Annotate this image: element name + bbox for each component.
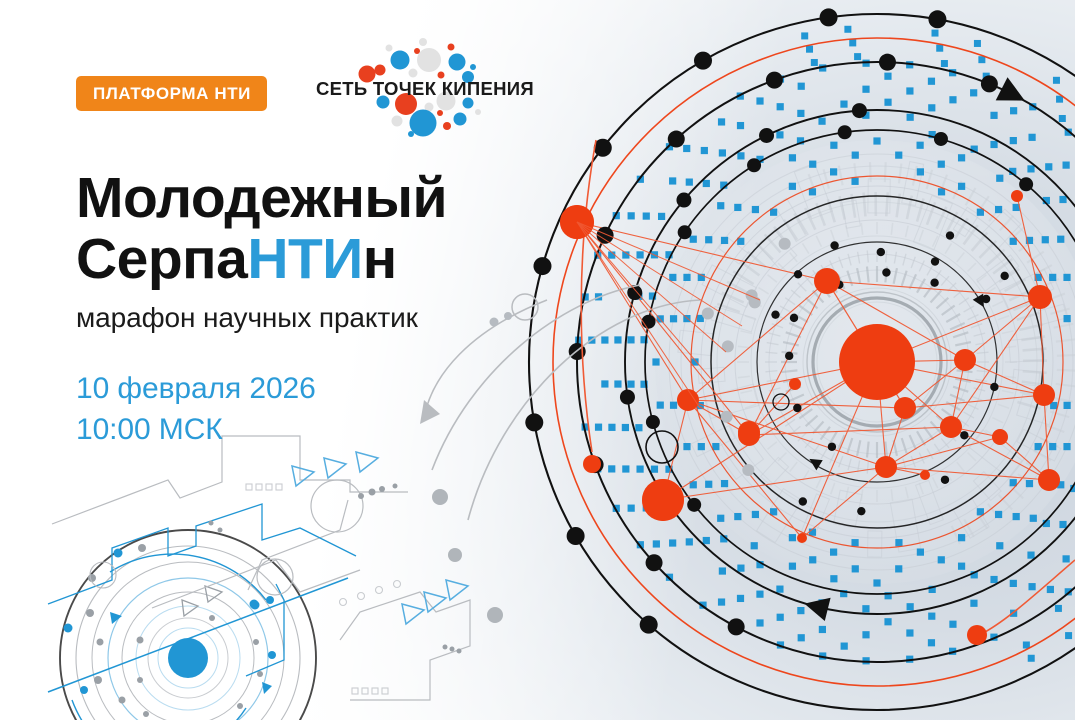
- logo-bubble: [448, 44, 455, 51]
- title-prefix: Серпа: [76, 227, 247, 291]
- logo-bubble: [392, 116, 403, 127]
- logo-bubble: [449, 54, 466, 71]
- promo-banner: ПЛАТФОРМА НТИ СЕТЬ ТОЧЕК КИПЕНИЯ Молодеж…: [0, 0, 1075, 720]
- event-time: 10:00 МСК: [76, 409, 316, 450]
- grey-circuit-path: [52, 436, 470, 700]
- left-hub-node: [168, 638, 208, 678]
- logo-bubble: [409, 69, 418, 78]
- logo-bubble: [386, 45, 393, 52]
- event-datetime: 10 февраля 2026 10:00 МСК: [76, 368, 316, 450]
- title-line-1: Молодежный: [76, 168, 596, 229]
- logo-bubble: [470, 64, 476, 70]
- platform-badge: ПЛАТФОРМА НТИ: [76, 76, 267, 111]
- logo-bubble: [437, 110, 443, 116]
- grey-connector-dots: [432, 489, 503, 623]
- logo-bubble: [454, 113, 467, 126]
- headline-block: Молодежный СерпаНТИн марафон научных пра…: [76, 168, 596, 334]
- event-date: 10 февраля 2026: [76, 368, 316, 409]
- logo-bubble: [443, 122, 451, 130]
- logo-text: СЕТЬ ТОЧЕК КИПЕНИЯ: [305, 78, 545, 100]
- logo-bubble: [414, 48, 420, 54]
- logo-bubble: [375, 65, 386, 76]
- left-rings: [60, 530, 316, 720]
- logo-bubble: [391, 51, 410, 70]
- title-line-2: СерпаНТИн: [76, 229, 596, 290]
- title-suffix: н: [363, 227, 397, 291]
- logo-bubble: [417, 48, 441, 72]
- boiling-points-logo: СЕТЬ ТОЧЕК КИПЕНИЯ: [305, 34, 545, 142]
- headline-subtitle: марафон научных практик: [76, 302, 596, 334]
- banner-header: ПЛАТФОРМА НТИ СЕТЬ ТОЧЕК КИПЕНИЯ: [0, 0, 600, 150]
- left-grey-triangles: [182, 586, 222, 616]
- left-blue-arcs: [72, 554, 266, 720]
- logo-bubble: [419, 38, 427, 46]
- path-outline-circle: [311, 480, 363, 532]
- logo-bubble: [408, 131, 414, 137]
- logo-bubble: [475, 109, 481, 115]
- title-accent-nti: НТИ: [247, 227, 362, 291]
